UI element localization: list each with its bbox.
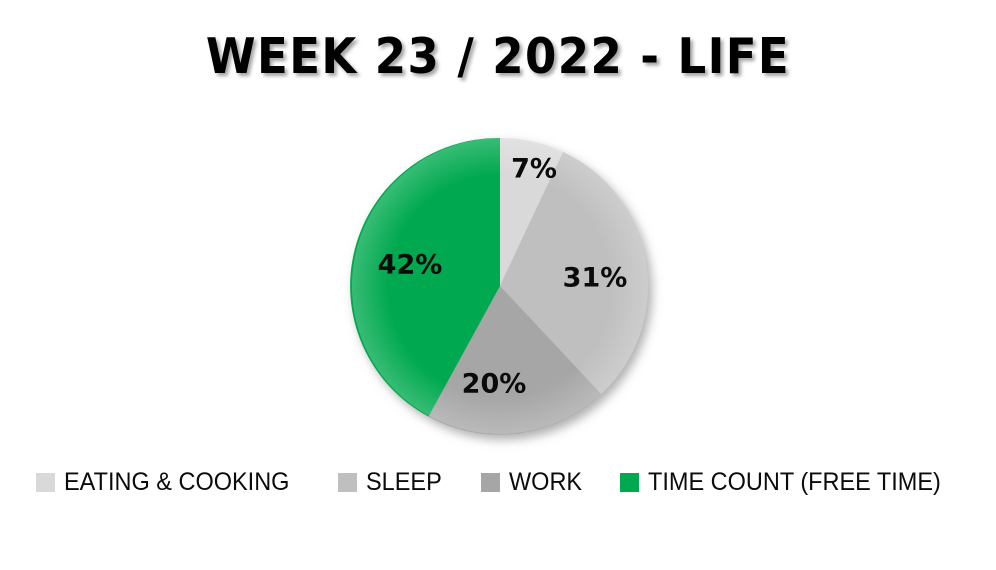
pie-label-sleep: 31% (563, 263, 628, 294)
legend-label: TIME COUNT (FREE TIME) (648, 470, 941, 495)
legend-label: WORK (509, 470, 582, 495)
legend-swatch-icon (620, 473, 639, 492)
pie-label-free-time: 42% (378, 250, 443, 281)
legend-item-work[interactable]: WORK (481, 470, 587, 495)
legend-swatch-icon (338, 473, 357, 492)
pie-label-eating-cooking: 7% (511, 154, 557, 185)
pie-svg: 7% 31% 20% 42% (322, 120, 678, 456)
legend-item-sleep[interactable]: SLEEP (338, 470, 447, 495)
pie-chart-figure: WEEK 23 / 2022 - LIFE (0, 0, 996, 570)
legend-item-eating-cooking[interactable]: EATING & COOKING (36, 470, 304, 495)
legend-swatch-icon (36, 473, 55, 492)
chart-legend: EATING & COOKING SLEEP WORK TIME COUNT (… (0, 470, 996, 495)
pie-label-work: 20% (462, 369, 527, 400)
legend-label: EATING & COOKING (64, 470, 289, 495)
chart-title: WEEK 23 / 2022 - LIFE (40, 28, 956, 85)
legend-label: SLEEP (366, 470, 442, 495)
legend-item-free-time[interactable]: TIME COUNT (FREE TIME) (620, 470, 960, 495)
pie-plot-area: 7% 31% 20% 42% (0, 120, 996, 460)
legend-swatch-icon (481, 473, 500, 492)
